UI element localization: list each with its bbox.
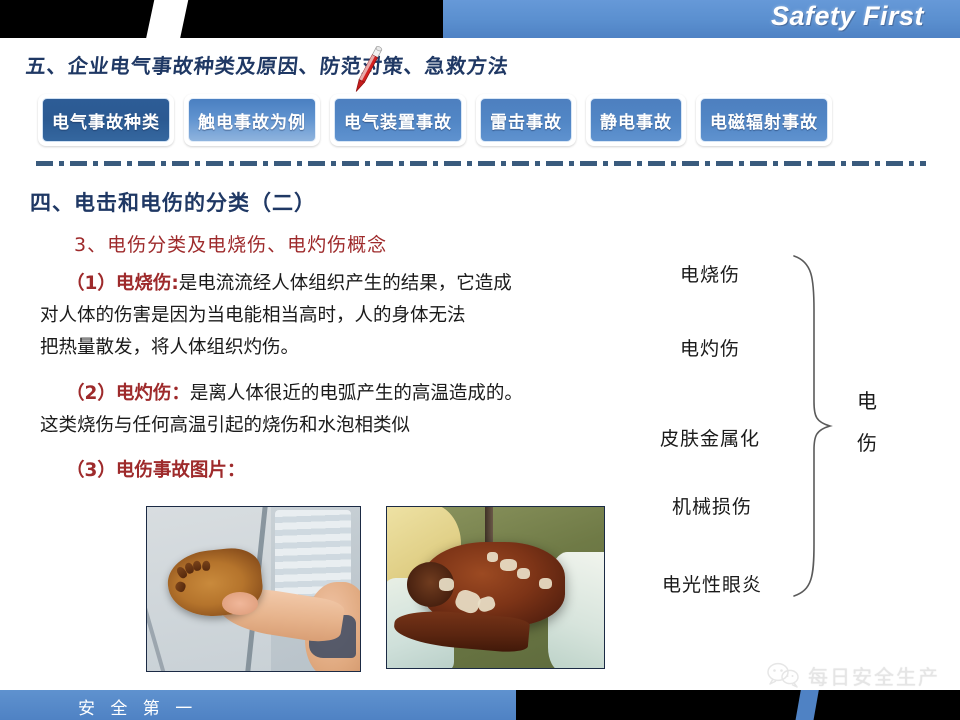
nav-tab-label: 雷击事故: [480, 98, 572, 142]
paragraph-dianzhuoshang: （2）电灼伤：是离人体很近的电弧产生的高温造成的。 这类烧伤与任何高温引起的烧伤…: [40, 378, 640, 442]
wechat-bubbles-icon: [767, 662, 801, 688]
photo-burned-hand: [146, 506, 361, 672]
paragraph-photos-label: （3）电伤事故图片：: [40, 455, 640, 487]
paragraph-line-2: 对人体的伤害是因为当电能相当高时，人的身体无法: [40, 300, 640, 332]
photo-finger: [202, 561, 211, 572]
footer-bar: 安 全 第 一: [0, 690, 960, 720]
banner-black-block-left: [0, 0, 160, 38]
brace-list-item: 电烧伤: [680, 260, 740, 287]
nav-tab-diancifushe-shigu[interactable]: 电磁辐射事故: [696, 94, 832, 146]
brace-list-item: 电光性眼炎: [662, 570, 762, 597]
photo-wound-dressing: [517, 568, 530, 579]
nav-tab-label: 电气事故种类: [42, 98, 170, 142]
banner-title: Safety First: [771, 1, 924, 32]
nav-tab-jingdian-shigu[interactable]: 静电事故: [586, 94, 686, 146]
nav-tab-label: 触电事故为例: [188, 98, 316, 142]
photo-content: [387, 507, 604, 668]
brace-list-item: 电灼伤: [680, 334, 740, 361]
brace-label-char: 伤: [852, 422, 882, 464]
photo-wound-dressing: [439, 578, 454, 591]
footer-black-block: [516, 690, 960, 720]
slide-canvas: Safety First 五、企业电气事故种类及原因、防范对策、急救方法 电气事…: [0, 0, 960, 720]
paragraph-line-2: 这类烧伤与任何高温引起的烧伤和水泡相类似: [40, 410, 640, 442]
paragraph-line-1: 是电流流经人体组织产生的结果，它造成: [179, 273, 512, 294]
section-title: 五、企业电气事故种类及原因、防范对策、急救方法: [24, 50, 510, 79]
nav-tab-label: 电气装置事故: [334, 98, 462, 142]
brace-list-item: 机械损伤: [672, 492, 752, 519]
paragraph-lead: （3）电伤事故图片：: [66, 460, 245, 481]
paragraph-line-1: 是离人体很近的电弧产生的高温造成的。: [190, 383, 523, 404]
top-banner: Safety First: [0, 0, 960, 38]
dash-dot-divider: [36, 161, 926, 166]
page-title: 四、电击和电伤的分类（二）: [30, 187, 316, 217]
nav-tab-dianqi-zhuangzhi-shigu[interactable]: 电气装置事故: [330, 94, 466, 146]
paragraph-lead: （2）电灼伤：: [66, 383, 190, 404]
photo-thumb: [174, 579, 187, 592]
footer-text: 安 全 第 一: [78, 694, 197, 719]
photo-wound-dressing: [539, 578, 552, 589]
nav-tab-label: 电磁辐射事故: [700, 98, 828, 142]
curly-brace-icon: [786, 252, 842, 600]
brace-label-char: 电: [852, 380, 882, 422]
nav-tab-leiji-shigu[interactable]: 雷击事故: [476, 94, 576, 146]
nav-tab-bar: 电气事故种类 触电事故为例 电气装置事故 雷击事故 静电事故 电磁辐射事故: [38, 93, 928, 147]
nav-tab-label: 静电事故: [590, 98, 682, 142]
watermark: 每日安全生产: [767, 658, 940, 692]
paragraph-line-3: 把热量散发，将人体组织灼伤。: [40, 332, 640, 364]
watermark-text: 每日安全生产: [808, 661, 940, 690]
photo-severe-burn-patient: [386, 506, 605, 669]
nav-tab-dianqi-shigu-zhonglei[interactable]: 电气事故种类: [38, 94, 174, 146]
photo-content: [147, 507, 360, 671]
injury-category-brace-group: 电烧伤 电灼伤 皮肤金属化 机械损伤 电光性眼炎 电 伤: [640, 252, 950, 600]
photo-wound-dressing: [487, 552, 498, 562]
photo-wound-dressing: [500, 559, 517, 572]
banner-black-block-right: [175, 0, 443, 38]
photo-wrist-skin: [222, 592, 258, 615]
page-subtitle: 3、电伤分类及电烧伤、电灼伤概念: [74, 230, 387, 257]
brace-list-item: 皮肤金属化: [660, 424, 760, 451]
paragraph-lead: （1）电烧伤:: [66, 273, 179, 294]
nav-tab-chudian-shigu-weili[interactable]: 触电事故为例: [184, 94, 320, 146]
paragraph-dianshaoshang: （1）电烧伤:是电流流经人体组织产生的结果，它造成 对人体的伤害是因为当电能相当…: [40, 268, 640, 364]
brace-group-label: 电 伤: [852, 380, 882, 464]
